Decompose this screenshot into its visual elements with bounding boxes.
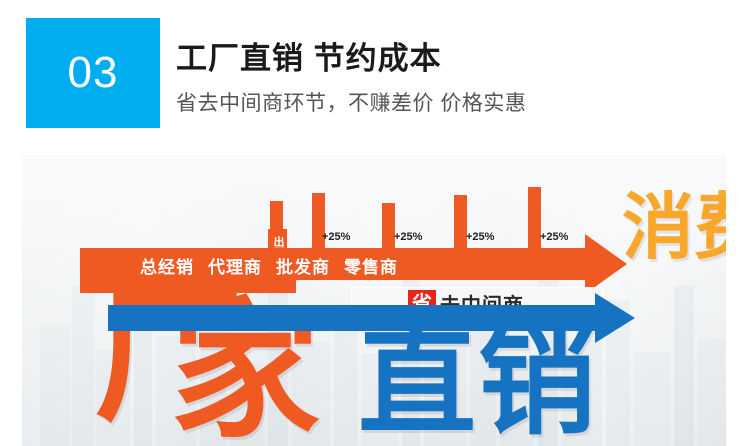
section-number-badge: 03 <box>26 18 160 128</box>
chain-label-1: 代理商 <box>208 253 262 278</box>
section-header: 03 工厂直销 节约成本 省去中间商环节，不赚差价 价格实惠 <box>0 0 748 150</box>
chain-label-0: 总经销 <box>140 253 194 278</box>
chain-label-2: 批发商 <box>276 253 330 278</box>
page-subtitle: 省去中间商环节，不赚差价 价格实惠 <box>176 92 526 115</box>
glyph-consumer: 消费者 <box>622 193 706 262</box>
markup-label-3: +25% <box>466 231 494 243</box>
section-number: 03 <box>68 51 119 95</box>
chain-arrow-head-icon <box>585 234 627 294</box>
direct-sales-diagram: 厂 出厂价 +25% +25% +25% +25% 总经销 代理商 批发商 零售… <box>22 155 726 446</box>
page-title: 工厂直销 节约成本 <box>176 42 442 76</box>
direct-arrow-head-icon <box>595 293 635 343</box>
illustration-panel: 厂 出厂价 +25% +25% +25% +25% 总经销 代理商 批发商 零售… <box>22 155 726 446</box>
ex-factory-stem <box>270 201 283 231</box>
markup-label-1: +25% <box>322 231 350 243</box>
promo-section: 03 工厂直销 节约成本 省去中间商环节，不赚差价 价格实惠 <box>0 0 748 446</box>
middleman-labels: 总经销 代理商 批发商 零售商 <box>140 252 570 278</box>
markup-label-2: +25% <box>394 231 422 243</box>
markup-label-4: +25% <box>540 231 568 243</box>
glyph-direct-sale: 直销 <box>358 323 598 441</box>
chain-label-3: 零售商 <box>344 253 398 278</box>
